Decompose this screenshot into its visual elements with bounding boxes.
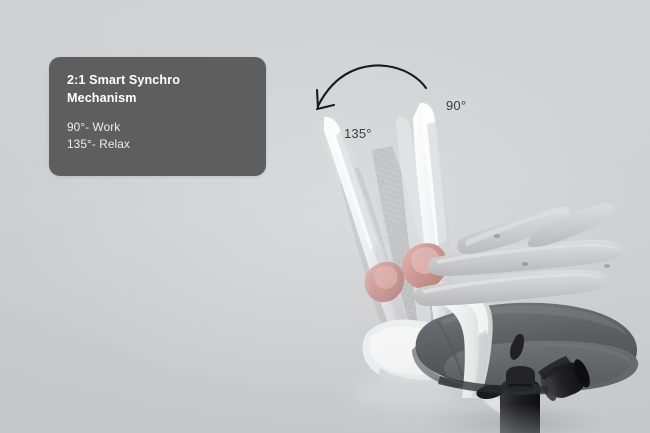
product-image-canvas: 90° 135° 2:1 Smart Synchro Mechanism 90°… xyxy=(0,0,650,433)
recline-direction-arrow xyxy=(300,60,450,130)
spec-line-relax: 135°- Relax xyxy=(67,136,248,153)
angle-label-135: 135° xyxy=(344,126,372,141)
info-card-spec-list: 90°- Work 135°- Relax xyxy=(67,119,248,152)
spec-line-work: 90°- Work xyxy=(67,119,248,136)
info-card: 2:1 Smart Synchro Mechanism 90°- Work 13… xyxy=(49,57,266,176)
angle-label-90: 90° xyxy=(446,98,466,113)
info-card-title: 2:1 Smart Synchro Mechanism xyxy=(67,72,248,107)
